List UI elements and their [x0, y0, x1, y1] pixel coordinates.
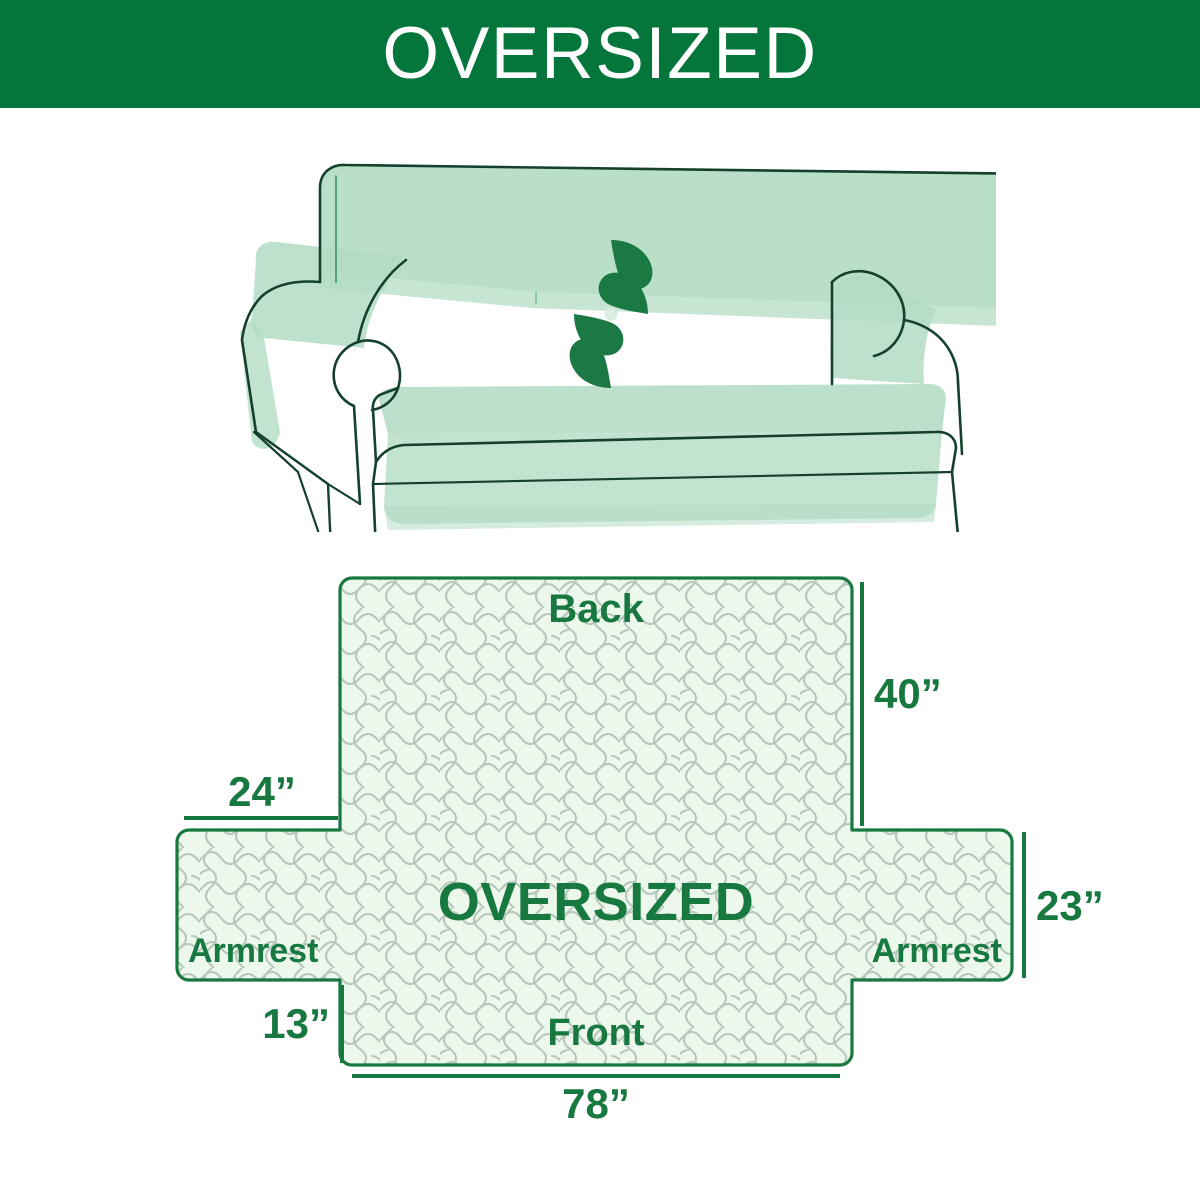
dimension-label-back-height: 40”: [874, 670, 942, 717]
dimension-label-total-width: 78”: [562, 1080, 630, 1127]
sofa-illustration: [236, 132, 996, 532]
panel-label-front: Front: [547, 1012, 644, 1054]
dimension-label-armrest-offset: 24”: [228, 768, 296, 815]
page-title: OVERSIZED: [382, 17, 817, 90]
panel-label-center: OVERSIZED: [438, 872, 755, 932]
panel-label-armrest-left: Armrest: [188, 932, 318, 970]
size-chart-page: OVERSIZED: [0, 0, 1200, 1200]
header-banner: OVERSIZED: [0, 0, 1200, 108]
flat-layout-diagram: Back OVERSIZED Armrest Armrest Front 40”: [140, 548, 1120, 1148]
dimension-label-armrest-depth: 23”: [1036, 882, 1104, 929]
panel-label-armrest-right: Armrest: [872, 932, 1002, 970]
panel-label-back: Back: [548, 587, 644, 631]
dimension-label-front-drop: 13”: [262, 1000, 330, 1047]
